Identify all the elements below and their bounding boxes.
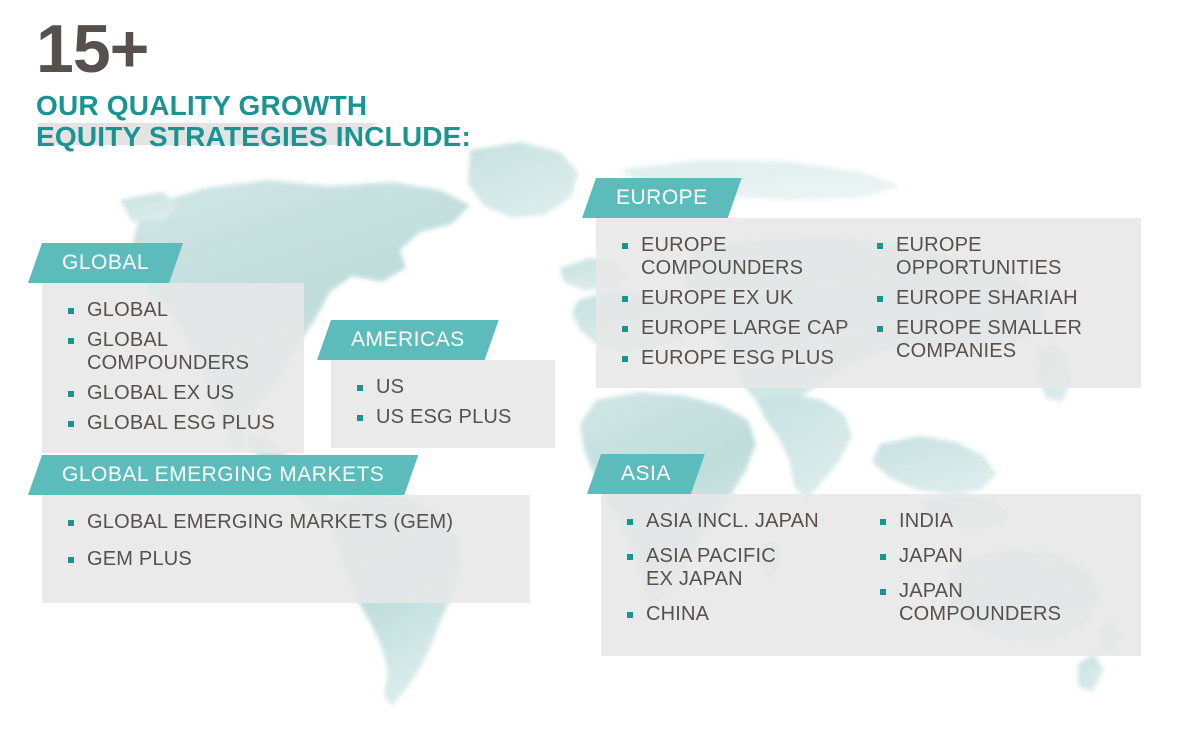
list-item: CHINA: [625, 603, 878, 626]
group-global-emerging-markets: GLOBAL EMERGING MARKETS GLOBAL EMERGING …: [42, 455, 530, 603]
group-europe-list-2: EUROPE OPPORTUNITIES EUROPE SHARIAH EURO…: [875, 234, 1130, 363]
list-item: EUROPE ESG PLUS: [620, 347, 875, 370]
group-americas-list-1: US US ESG PLUS: [355, 376, 512, 429]
group-europe-list-1: EUROPE COMPOUNDERS EUROPE EX UK EUROPE L…: [620, 234, 875, 370]
group-americas-panel: US US ESG PLUS: [331, 360, 555, 448]
list-item: GEM PLUS: [66, 548, 453, 571]
group-americas-column-1: US US ESG PLUS: [355, 376, 512, 430]
group-americas-banner: AMERICAS: [317, 320, 499, 360]
list-item: JAPAN COMPOUNDERS: [878, 580, 1131, 626]
page-title-line-2: EQUITY STRATEGIES INCLUDE:: [36, 121, 471, 152]
list-item: GLOBAL EX US: [66, 382, 275, 405]
list-item: EUROPE OPPORTUNITIES: [875, 234, 1130, 280]
group-global-column-1: GLOBAL GLOBAL COMPOUNDERS GLOBAL EX US G…: [66, 299, 275, 435]
list-item: JAPAN: [878, 545, 1131, 568]
group-asia-list-2: INDIA JAPAN JAPAN COMPOUNDERS: [878, 510, 1131, 638]
group-global-list-1: GLOBAL GLOBAL COMPOUNDERS GLOBAL EX US G…: [66, 299, 275, 435]
group-gem-column-1: GLOBAL EMERGING MARKETS (GEM) GEM PLUS: [66, 511, 453, 585]
list-item: ASIA PACIFIC EX JAPAN: [625, 545, 878, 591]
group-global-banner: GLOBAL: [28, 243, 183, 283]
group-asia-list-1: ASIA INCL. JAPAN ASIA PACIFIC EX JAPAN C…: [625, 510, 878, 638]
group-europe-column-2: EUROPE OPPORTUNITIES EUROPE SHARIAH EURO…: [875, 234, 1130, 370]
page-title: OUR QUALITY GROWTH EQUITY STRATEGIES INC…: [36, 90, 471, 152]
page-title-line-1: OUR QUALITY GROWTH: [36, 90, 471, 121]
list-item: GLOBAL EMERGING MARKETS (GEM): [66, 511, 453, 534]
group-asia-column-1: ASIA INCL. JAPAN ASIA PACIFIC EX JAPAN C…: [625, 510, 878, 638]
group-europe-column-1: EUROPE COMPOUNDERS EUROPE EX UK EUROPE L…: [620, 234, 875, 370]
list-item: EUROPE EX UK: [620, 287, 875, 310]
page-headline: 15+ OUR QUALITY GROWTH EQUITY STRATEGIES…: [36, 14, 471, 152]
infographic-page: 15+ OUR QUALITY GROWTH EQUITY STRATEGIES…: [0, 0, 1200, 734]
list-item: GLOBAL COMPOUNDERS: [66, 329, 275, 375]
list-item: GLOBAL: [66, 299, 275, 322]
list-item: GLOBAL ESG PLUS: [66, 412, 275, 435]
group-gem-list-1: GLOBAL EMERGING MARKETS (GEM) GEM PLUS: [66, 511, 453, 585]
group-gem-panel: GLOBAL EMERGING MARKETS (GEM) GEM PLUS: [42, 495, 530, 603]
group-gem-banner: GLOBAL EMERGING MARKETS: [28, 455, 418, 495]
group-asia-panel: ASIA INCL. JAPAN ASIA PACIFIC EX JAPAN C…: [601, 494, 1141, 656]
group-americas: AMERICAS US US ESG PLUS: [331, 320, 555, 448]
group-europe-banner: EUROPE: [582, 178, 742, 218]
list-item: US: [355, 376, 512, 399]
list-item: EUROPE COMPOUNDERS: [620, 234, 875, 280]
group-asia-banner: ASIA: [587, 454, 705, 494]
list-item: EUROPE SHARIAH: [875, 287, 1130, 310]
group-asia: ASIA ASIA INCL. JAPAN ASIA PACIFIC EX JA…: [601, 454, 1141, 656]
group-global: GLOBAL GLOBAL GLOBAL COMPOUNDERS GLOBAL …: [42, 243, 304, 453]
list-item: EUROPE LARGE CAP: [620, 317, 875, 340]
list-item: INDIA: [878, 510, 1131, 533]
list-item: US ESG PLUS: [355, 406, 512, 429]
strategy-count: 15+: [36, 14, 471, 84]
group-europe-panel: EUROPE COMPOUNDERS EUROPE EX UK EUROPE L…: [596, 218, 1141, 388]
group-asia-column-2: INDIA JAPAN JAPAN COMPOUNDERS: [878, 510, 1131, 638]
group-global-panel: GLOBAL GLOBAL COMPOUNDERS GLOBAL EX US G…: [42, 283, 304, 453]
list-item: EUROPE SMALLER COMPANIES: [875, 317, 1130, 363]
group-europe: EUROPE EUROPE COMPOUNDERS EUROPE EX UK E…: [596, 178, 1141, 388]
list-item: ASIA INCL. JAPAN: [625, 510, 878, 533]
